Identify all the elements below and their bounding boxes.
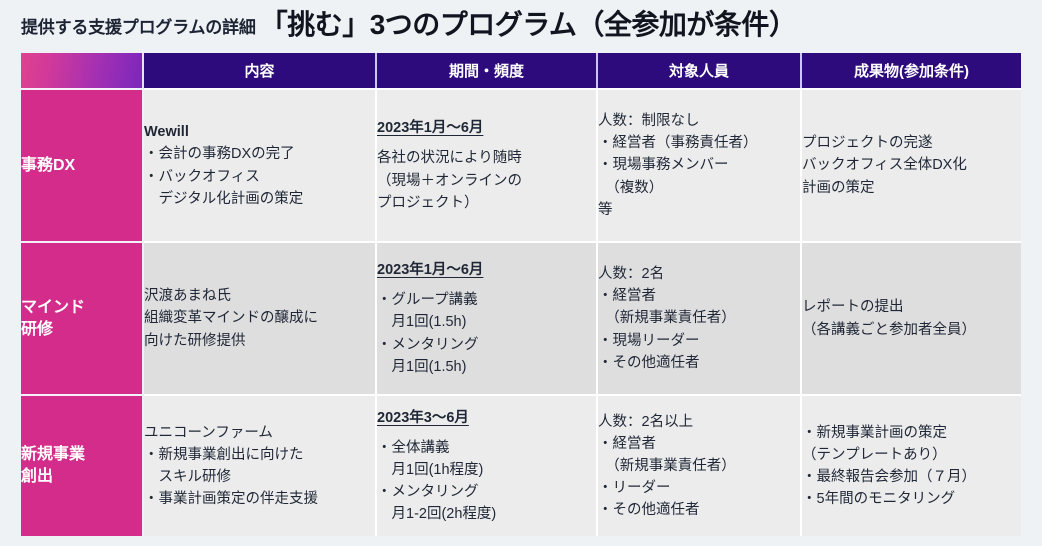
row-label-mind-kenshu: マインド 研修: [21, 241, 144, 394]
page-subtitle-text: 提供する支援プログラムの詳細: [21, 13, 256, 38]
header-corner-gradient: [21, 53, 144, 88]
column-header-participants: 対象人員: [598, 53, 802, 88]
cell-content-mind-kenshu: 沢渡あまね氏 組織変革マインドの醸成に 向けた研修提供: [144, 241, 377, 394]
cell-deliverable-jimu-dx: プロジェクトの完遂 バックオフィス全体DX化 計画の策定: [802, 88, 1021, 241]
cell-content-shinki-jigyo: ユニコーンファーム ・新規事業創出に向けた スキル研修 ・事業計画策定の伴走支援: [144, 394, 377, 536]
cell-deliverable-mind-kenshu: レポートの提出 （各講義ごと参加者全員）: [802, 241, 1021, 394]
period-body: 各社の状況により随時 （現場＋オンラインの プロジェクト）: [377, 147, 596, 213]
cell-content-jimu-dx: Wewill・会計の事務DXの完了 ・バックオフィス デジタル化計画の策定: [144, 88, 377, 241]
table-header-row: 内容 期間・頻度 対象人員 成果物(参加条件): [21, 53, 1021, 88]
column-header-deliverable: 成果物(参加条件): [802, 53, 1021, 88]
cell-deliverable-shinki-jigyo: ・新規事業計画の策定 （テンプレートあり） ・最終報告会参加（７月） ・5年間の…: [802, 394, 1021, 536]
cell-participants-shinki-jigyo: 人数：2名以上 ・経営者 （新規事業責任者） ・リーダー ・その他適任者: [598, 394, 802, 536]
period-heading: 2023年3～6月: [377, 407, 469, 429]
cell-content-lead: Wewill: [144, 121, 375, 143]
row-label-shinki-jigyo: 新規事業 創出: [21, 394, 144, 536]
page-title: 提供する支援プログラムの詳細 「挑む」3つのプログラム（全参加が条件）: [21, 2, 1021, 46]
table-row: 新規事業 創出 ユニコーンファーム ・新規事業創出に向けた スキル研修 ・事業計…: [21, 394, 1021, 536]
slide-root: 提供する支援プログラムの詳細 「挑む」3つのプログラム（全参加が条件） 内容 期…: [0, 0, 1042, 546]
cell-period-shinki-jigyo: 2023年3～6月・全体講義 月1回(1h程度) ・メンタリング 月1-2回(2…: [377, 394, 598, 536]
table-row: マインド 研修 沢渡あまね氏 組織変革マインドの醸成に 向けた研修提供 2023…: [21, 241, 1021, 394]
column-header-content: 内容: [144, 53, 377, 88]
period-body: ・全体講義 月1回(1h程度) ・メンタリング 月1-2回(2h程度): [377, 437, 596, 525]
column-header-period: 期間・頻度: [377, 53, 598, 88]
row-label-jimu-dx: 事務DX: [21, 88, 144, 241]
cell-period-jimu-dx: 2023年1月～6月各社の状況により随時 （現場＋オンラインの プロジェクト）: [377, 88, 598, 241]
period-heading: 2023年1月～6月: [377, 117, 483, 139]
table-row: 事務DX Wewill・会計の事務DXの完了 ・バックオフィス デジタル化計画の…: [21, 88, 1021, 241]
page-title-text: 「挑む」3つのプログラム（全参加が条件）: [260, 3, 797, 43]
cell-participants-jimu-dx: 人数：制限なし ・経営者（事務責任者） ・現場事務メンバー （複数） 等: [598, 88, 802, 241]
cell-content-body: ・会計の事務DXの完了 ・バックオフィス デジタル化計画の策定: [144, 143, 375, 209]
cell-period-mind-kenshu: 2023年1月～6月・グループ講義 月1回(1.5h) ・メンタリング 月1回(…: [377, 241, 598, 394]
cell-participants-mind-kenshu: 人数：2名 ・経営者 （新規事業責任者） ・現場リーダー ・その他適任者: [598, 241, 802, 394]
program-table: 内容 期間・頻度 対象人員 成果物(参加条件) 事務DX Wewill・会計の事…: [21, 53, 1021, 536]
period-body: ・グループ講義 月1回(1.5h) ・メンタリング 月1回(1.5h): [377, 289, 596, 377]
period-heading: 2023年1月～6月: [377, 259, 483, 281]
